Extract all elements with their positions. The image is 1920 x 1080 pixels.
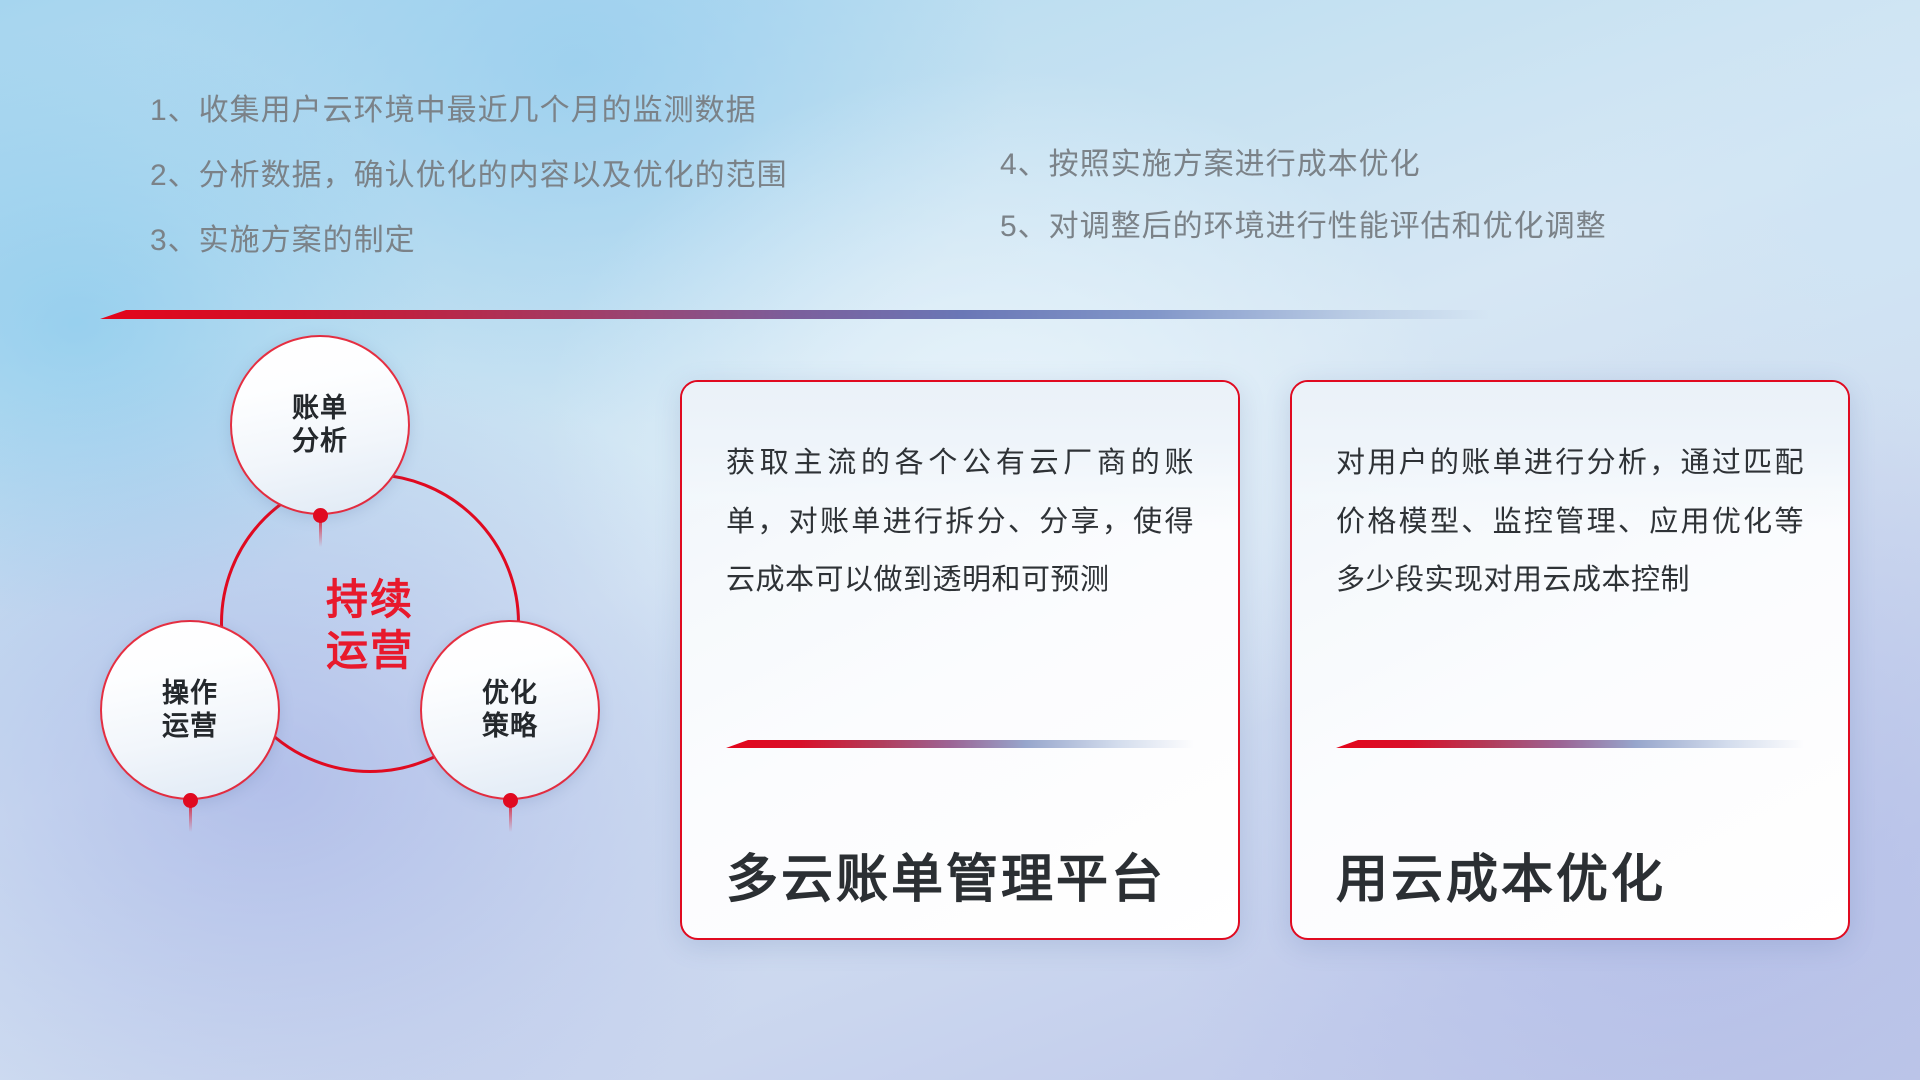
divider-bar <box>100 310 1490 319</box>
info-card-cloud-cost-optimization[interactable]: 对用户的账单进行分析，通过匹配价格模型、监控管理、应用优化等多少段实现对用云成本… <box>1290 380 1850 940</box>
venn-center-label-group: 持续 运营 <box>220 525 520 725</box>
info-card-multicloud-billing[interactable]: 获取主流的各个公有云厂商的账单，对账单进行拆分、分享，使得云成本可以做到透明和可… <box>680 380 1240 940</box>
bullet-list-left: 1、收集用户云环境中最近几个月的监测数据 2、分析数据，确认优化的内容以及优化的… <box>150 96 788 291</box>
bullet-item-4: 4、按照实施方案进行成本优化 <box>1000 150 1607 180</box>
card-2-body-text: 对用户的账单进行分析，通过匹配价格模型、监控管理、应用优化等多少段实现对用云成本… <box>1336 434 1804 610</box>
section-divider <box>100 310 1490 319</box>
card-1-divider <box>726 740 1194 748</box>
venn-marker-dot-right <box>503 793 518 808</box>
venn-lobe-left-line2: 运营 <box>162 710 218 743</box>
bullet-item-2: 2、分析数据，确认优化的内容以及优化的范围 <box>150 161 788 191</box>
bullet-list-right: 4、按照实施方案进行成本优化 5、对调整后的环境进行性能评估和优化调整 <box>1000 150 1607 274</box>
venn-marker-dot-left <box>183 793 198 808</box>
bullet-item-1: 1、收集用户云环境中最近几个月的监测数据 <box>150 96 788 126</box>
venn-lobe-label-top: 账单 分析 <box>292 392 348 458</box>
venn-marker-dot-top <box>313 508 328 523</box>
card-1-body-text: 获取主流的各个公有云厂商的账单，对账单进行拆分、分享，使得云成本可以做到透明和可… <box>726 434 1194 610</box>
bullet-item-5: 5、对调整后的环境进行性能评估和优化调整 <box>1000 212 1607 242</box>
venn-lobe-left-line1: 操作 <box>162 677 218 710</box>
venn-diagram: 持续 运营 账单 分析 操作 运营 优化 策略 <box>95 345 635 945</box>
slide-canvas: 1、收集用户云环境中最近几个月的监测数据 2、分析数据，确认优化的内容以及优化的… <box>0 0 1920 1080</box>
card-2-divider-bar <box>1336 740 1804 748</box>
venn-lobe-top-line2: 分析 <box>292 425 348 458</box>
venn-center-label-line2: 运营 <box>326 625 414 676</box>
card-1-divider-bar <box>726 740 1194 748</box>
card-2-title: 用云成本优化 <box>1336 837 1666 912</box>
venn-lobe-label-left: 操作 运营 <box>162 677 218 743</box>
venn-center-label-line1: 持续 <box>326 574 414 625</box>
bullet-item-3: 3、实施方案的制定 <box>150 226 788 256</box>
venn-center-label: 持续 运营 <box>326 574 414 676</box>
card-1-title: 多云账单管理平台 <box>726 837 1166 912</box>
venn-lobe-bill-analysis[interactable]: 账单 分析 <box>230 335 410 515</box>
venn-lobe-top-line1: 账单 <box>292 392 348 425</box>
card-2-divider <box>1336 740 1804 748</box>
